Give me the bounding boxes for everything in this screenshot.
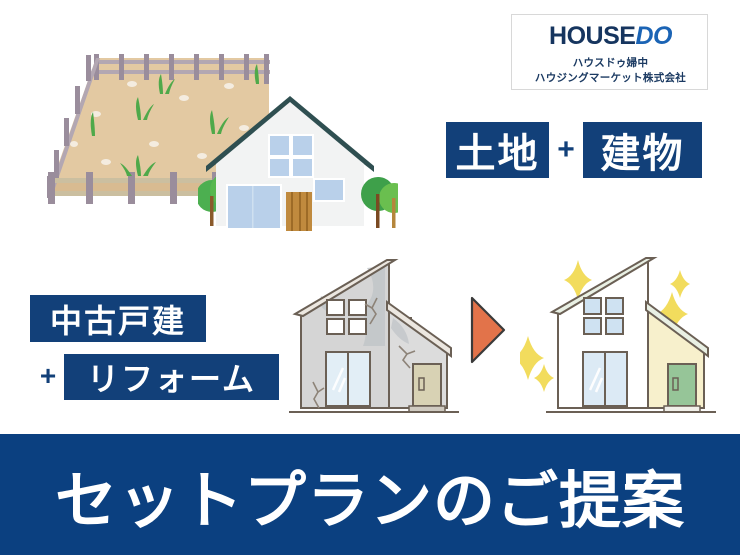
bottom-banner: セットプランのご提案 [0, 434, 740, 555]
renovated-house-illustration [520, 252, 720, 422]
plus-sign-top: + [551, 134, 581, 166]
upper-window [268, 134, 314, 178]
badge-reform: リフォーム [64, 354, 279, 400]
right-arrow-icon [466, 294, 510, 366]
plus-sign-left: + [34, 358, 62, 394]
old-house-illustration [281, 256, 466, 421]
badge-tatemono: 建物 [583, 122, 702, 178]
company-logo: HOUSEDO ハウスドゥ婦中 ハウジングマーケット株式会社 [511, 14, 708, 90]
logo-subtitle-line1: ハウスドゥ婦中 [512, 55, 709, 70]
logo-subtitle-line2: ハウジングマーケット株式会社 [512, 70, 709, 85]
front-door [286, 192, 312, 231]
large-window [226, 184, 282, 230]
new-house-illustration [198, 86, 398, 231]
logo-wordmark: HOUSEDO [512, 24, 709, 49]
badge-chuko-kodate: 中古戸建 [30, 295, 206, 342]
logo-word-house: HOUSE [549, 22, 635, 50]
badge-tochi: 土地 [446, 122, 549, 178]
trees-right [361, 177, 398, 228]
logo-word-do: DO [635, 22, 672, 50]
banner-headline: セットプランのご提案 [0, 434, 740, 555]
small-window [313, 178, 345, 202]
poster-root: HOUSEDO ハウスドゥ婦中 ハウジングマーケット株式会社 土地 + 建物 中… [0, 0, 740, 555]
